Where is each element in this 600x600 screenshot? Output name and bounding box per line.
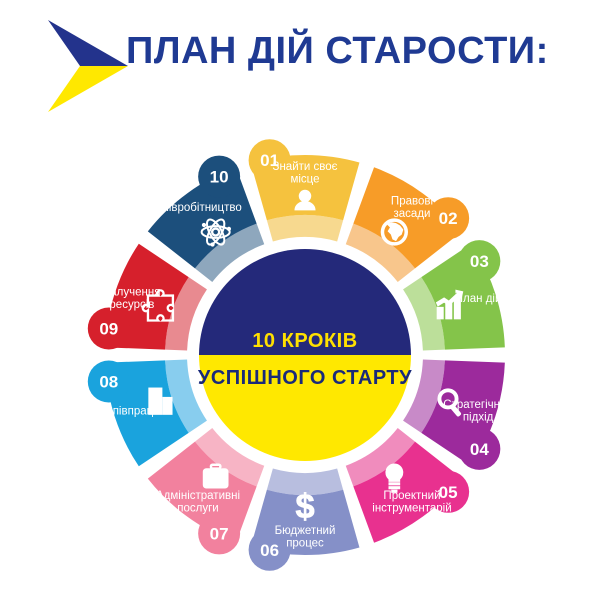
ten-steps-wheel: $ xyxy=(0,0,600,600)
step-label-09: ресурсів xyxy=(109,299,154,311)
step-inner-ring-01 xyxy=(267,215,343,241)
step-label-04: Стратегічний xyxy=(443,399,513,411)
step-number-04: 04 xyxy=(470,440,489,459)
center-line-1: 10 КРОКІВ xyxy=(252,330,357,352)
step-label-02: Правові xyxy=(391,196,433,208)
step-number-02: 02 xyxy=(439,209,458,228)
wheel-svg: $ xyxy=(0,0,600,600)
step-label-02: засади xyxy=(394,208,431,220)
step-label-05: інструментарій xyxy=(372,503,451,515)
step-number-08: 08 xyxy=(99,373,118,392)
step-number-03: 03 xyxy=(470,252,489,271)
step-label-01: місце xyxy=(290,173,319,185)
step-label-07: Адміністративні xyxy=(156,490,240,502)
step-label-07: послуги xyxy=(177,503,218,515)
wheel-center: 10 КРОКІВ УСПІШНОГО СТАРТУ xyxy=(195,245,415,467)
step-number-10: 10 xyxy=(210,168,229,187)
step-label-04: підхід xyxy=(463,412,494,424)
infographic-page: ПЛАН ДІЙ СТАРОСТИ: xyxy=(0,0,600,600)
step-label-01: Знайти своє xyxy=(273,161,338,173)
step-number-06: 06 xyxy=(260,541,279,560)
wheel-step-06[interactable]: 06Бюджетнийпроцес xyxy=(249,469,360,571)
step-number-09: 09 xyxy=(99,319,118,338)
step-label-06: Бюджетний xyxy=(275,525,336,537)
step-label-05: Проектний xyxy=(383,490,440,502)
center-line-2: УСПІШНОГО СТАРТУ xyxy=(198,367,412,389)
wheel-step-01[interactable]: 01Знайти своємісце xyxy=(249,139,360,241)
step-number-07: 07 xyxy=(210,524,229,543)
step-label-06: процес xyxy=(286,537,324,549)
step-label-09: Залучення xyxy=(103,287,160,299)
step-label-08: Співпраця xyxy=(104,405,159,417)
dollar-sign-icon xyxy=(295,488,314,526)
step-label-03: План дій xyxy=(455,293,502,305)
briefcase-icon xyxy=(203,465,228,488)
step-number-05: 05 xyxy=(439,483,458,502)
step-label-10: Співробітництво xyxy=(154,202,241,214)
